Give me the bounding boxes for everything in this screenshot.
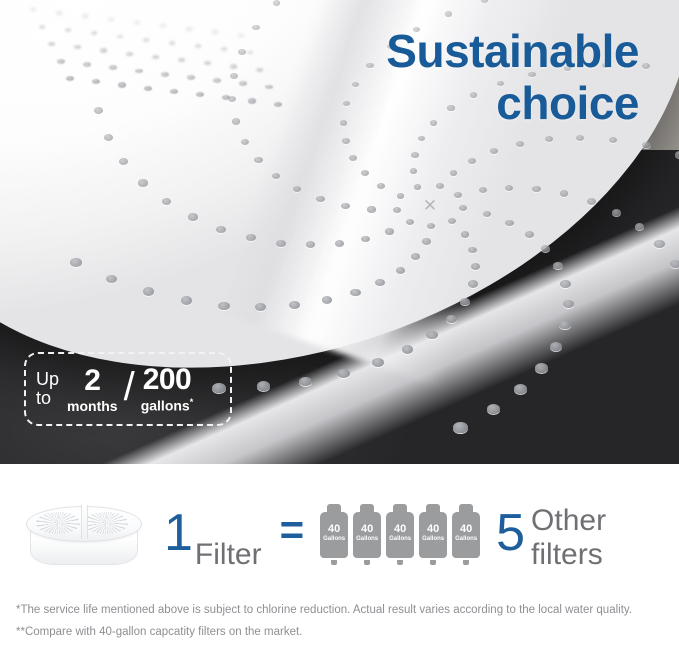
badge-gallons-value: 200: [143, 365, 192, 395]
footnote-1: *The service life mentioned above is sub…: [16, 599, 666, 621]
cartridge-value: 40: [320, 524, 348, 536]
footnotes: *The service life mentioned above is sub…: [16, 599, 666, 644]
center-cross-mark: ✕: [421, 197, 439, 215]
cartridge-label: 40Gallons: [419, 524, 447, 542]
other-filters-label: Other filters: [531, 504, 679, 580]
badge-asterisk: *: [190, 397, 194, 407]
footnote-2: **Compare with 40-gallon capcatity filte…: [16, 621, 666, 643]
product-filter-illustration: [18, 492, 150, 574]
cartridge-foot: [331, 560, 337, 565]
comparison-row: 1 Filter = 40Gallons40Gallons40Gallons40…: [0, 486, 679, 580]
cartridge-value: 40: [419, 524, 447, 536]
cartridge-label: 40Gallons: [386, 524, 414, 542]
badge-gallons-word: gallons: [141, 398, 190, 414]
cartridge-label: 40Gallons: [353, 524, 381, 542]
competitor-cartridge-row: 40Gallons40Gallons40Gallons40Gallons40Ga…: [320, 504, 480, 562]
cartridge-foot: [463, 560, 469, 565]
competitor-cartridge: 40Gallons: [452, 504, 480, 562]
lifespan-badge: Up to 2 months / 200 gallons*: [24, 352, 232, 426]
cartridge-foot: [397, 560, 403, 565]
equals-icon: =: [280, 509, 305, 557]
competitor-cartridge: 40Gallons: [419, 504, 447, 562]
cartridge-label: 40Gallons: [320, 524, 348, 542]
filter-mesh-right: [84, 512, 128, 534]
cartridge-unit: Gallons: [419, 536, 447, 542]
filter-mesh-left: [36, 512, 80, 534]
competitor-cartridge: 40Gallons: [386, 504, 414, 562]
cartridge-foot: [364, 560, 370, 565]
badge-months-label: months: [67, 399, 118, 413]
badge-months-value: 2: [84, 366, 100, 396]
badge-gallons-group: 200 gallons*: [141, 365, 194, 413]
one-filter-count: 1: [164, 507, 193, 559]
product-photo: ✕ Sustainable choice Up to 2 months / 20…: [0, 0, 679, 464]
cartridge-unit: Gallons: [386, 536, 414, 542]
cartridge-value: 40: [386, 524, 414, 536]
cartridge-value: 40: [353, 524, 381, 536]
one-filter-label: Filter: [195, 538, 262, 580]
badge-up-word: Up: [36, 369, 59, 389]
badge-to-word: to: [36, 388, 51, 408]
badge-upto-label: Up to: [36, 370, 59, 409]
cartridge-unit: Gallons: [452, 536, 480, 542]
filter-center-divider: [81, 505, 88, 539]
competitor-cartridge: 40Gallons: [353, 504, 381, 562]
badge-divider: /: [124, 365, 135, 410]
comparison-section: 1 Filter = 40Gallons40Gallons40Gallons40…: [0, 464, 679, 647]
cartridge-unit: Gallons: [320, 536, 348, 542]
badge-gallons-label: gallons*: [141, 398, 194, 413]
headline-line-1: Sustainable: [386, 25, 639, 77]
other-filters-count: 5: [496, 507, 525, 559]
cartridge-value: 40: [452, 524, 480, 536]
headline-line-2: choice: [386, 78, 639, 130]
cartridge-unit: Gallons: [353, 536, 381, 542]
badge-months-group: 2 months: [67, 366, 118, 413]
cartridge-foot: [430, 560, 436, 565]
cartridge-label: 40Gallons: [452, 524, 480, 542]
page-title: Sustainable choice: [386, 26, 639, 129]
competitor-cartridge: 40Gallons: [320, 504, 348, 562]
